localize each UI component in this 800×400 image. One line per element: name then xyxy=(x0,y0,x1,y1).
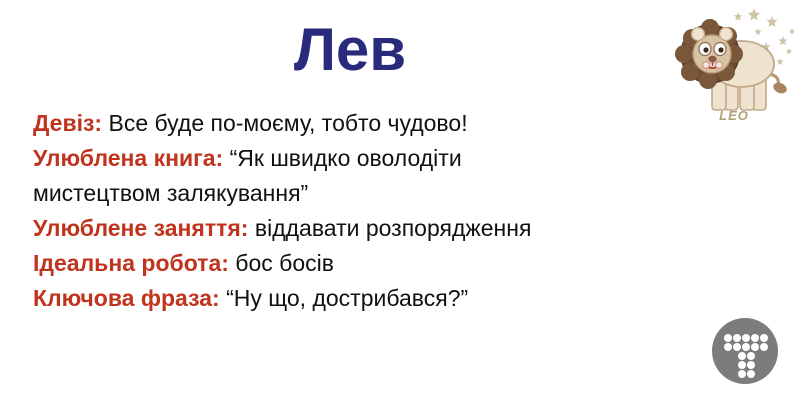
page-title: Лев xyxy=(0,18,700,81)
brand-logo xyxy=(712,318,778,384)
fact-line-favourite-activity: Улюблене заняття: віддавати розпорядженн… xyxy=(33,211,673,246)
fact-line-ideal-job: Ідеальна робота: бос босів xyxy=(33,246,673,281)
facts-list: Девіз: Все буде по-моєму, тобто чудово! … xyxy=(33,106,673,316)
lion-ear-icon xyxy=(720,28,733,41)
fact-label: Улюблене заняття: xyxy=(33,215,248,241)
fact-label: Ідеальна робота: xyxy=(33,250,229,276)
fact-line-motto: Девіз: Все буде по-моєму, тобто чудово! xyxy=(33,106,673,141)
fact-value: бос босів xyxy=(235,250,334,276)
slide-canvas: Лев Девіз: Все буде по-моєму, тобто чудо… xyxy=(0,0,800,400)
fact-line-key-phrase: Ключова фраза: “Ну що, дострибався?” xyxy=(33,281,673,316)
fact-value: віддавати розпорядження xyxy=(255,215,532,241)
fact-label: Девіз: xyxy=(33,110,102,136)
fact-label: Ключова фраза: xyxy=(33,285,220,311)
fact-value: “Ну що, дострибався?” xyxy=(226,285,468,311)
leo-caption: LEO xyxy=(668,108,800,123)
fact-value: Все буде по-моєму, тобто чудово! xyxy=(108,110,467,136)
logo-dot-grid-icon xyxy=(712,318,778,384)
lion-nose-icon xyxy=(708,56,716,62)
fact-label: Улюблена книга: xyxy=(33,145,223,171)
lion-ear-icon xyxy=(692,28,705,41)
fact-line-favourite-book: Улюблена книга: “Як швидко оволодіти мис… xyxy=(33,141,553,211)
